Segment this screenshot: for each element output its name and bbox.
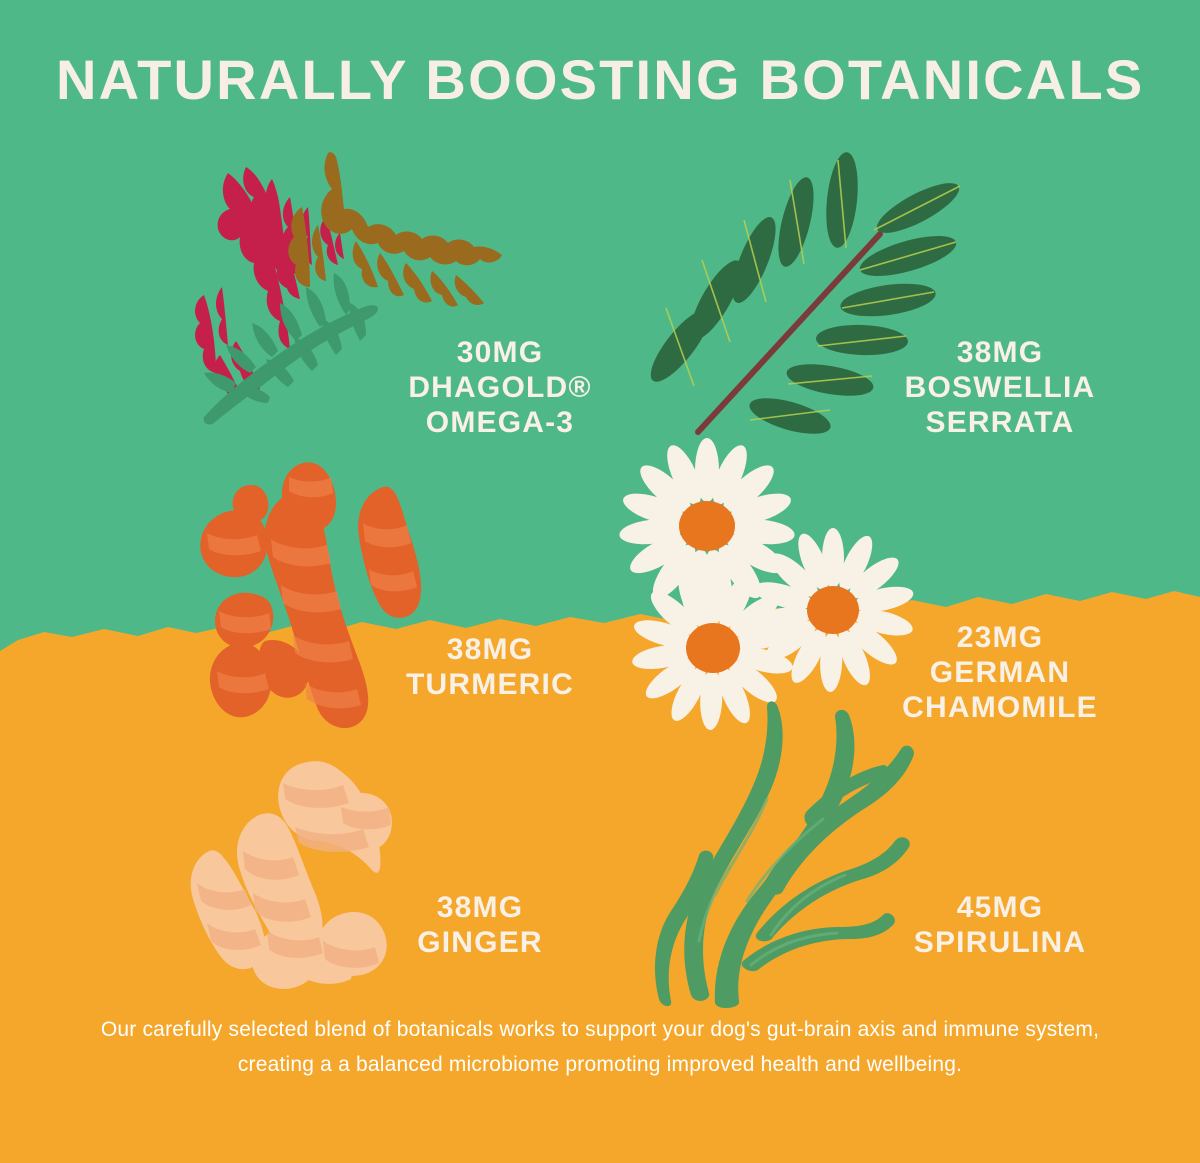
- ingredient-name-line-2: OMEGA-3: [330, 405, 670, 440]
- dose-value: 38MG: [320, 632, 660, 667]
- ingredient-label-spirulina: 45MG SPIRULINA: [840, 890, 1160, 960]
- ingredient-name-line-1: GERMAN: [830, 655, 1170, 690]
- page-title: NATURALLY BOOSTING BOTANICALS: [56, 50, 1156, 110]
- dose-value: 38MG: [830, 335, 1170, 370]
- ingredient-name-line-2: SERRATA: [830, 405, 1170, 440]
- dose-value: 45MG: [840, 890, 1160, 925]
- ingredient-label-ginger: 38MG GINGER: [330, 890, 630, 960]
- footer-description: Our carefully selected blend of botanica…: [60, 1012, 1140, 1082]
- dose-value: 23MG: [830, 620, 1170, 655]
- ingredient-label-boswellia-serrata: 38MG BOSWELLIA SERRATA: [830, 335, 1170, 440]
- dose-value: 38MG: [330, 890, 630, 925]
- ingredient-name-line-1: DHAGOLD®: [330, 370, 670, 405]
- ingredient-name-line-1: TURMERIC: [320, 667, 660, 702]
- ingredient-name-line-1: GINGER: [330, 925, 630, 960]
- ingredient-label-dhagold-omega-3: 30MG DHAGOLD® OMEGA-3: [330, 335, 670, 440]
- ingredient-label-turmeric: 38MG TURMERIC: [320, 632, 660, 702]
- botanicals-infographic: NATURALLY BOOSTING BOTANICALS: [0, 0, 1200, 1163]
- ingredient-name-line-1: SPIRULINA: [840, 925, 1160, 960]
- dose-value: 30MG: [330, 335, 670, 370]
- ingredient-name-line-1: BOSWELLIA: [830, 370, 1170, 405]
